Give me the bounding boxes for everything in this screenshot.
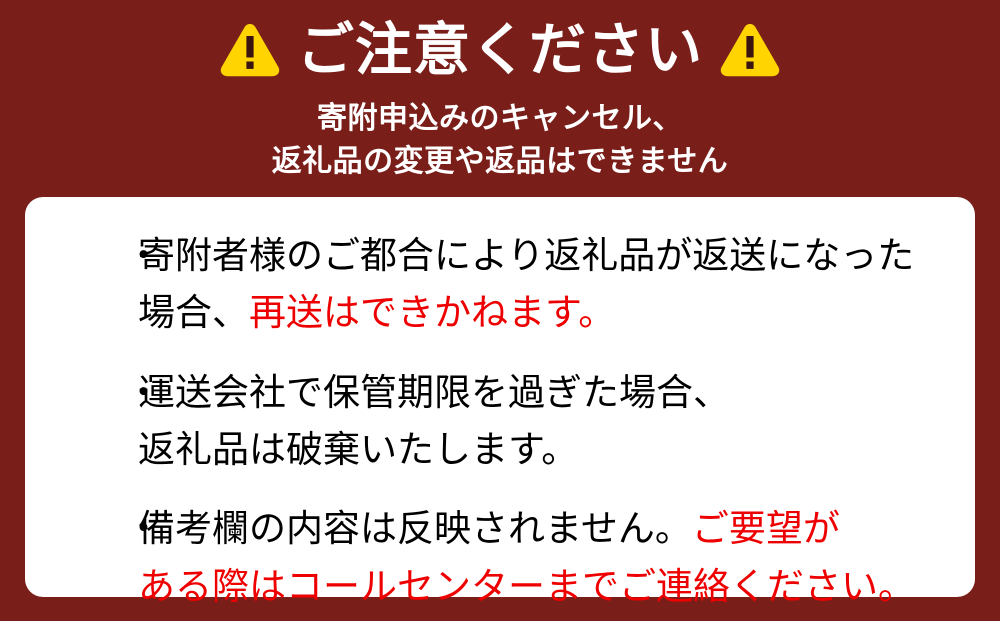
note-text: 寄附者様のご都合により返礼品が返送になった	[138, 235, 914, 276]
note-text: 場合、	[138, 292, 249, 333]
title-row: ご注意ください	[0, 14, 1000, 86]
poster-subtitle: 寄附申込みのキャンセル、 返礼品の変更や返品はできません	[0, 98, 1000, 183]
notes-list: ・寄附者様のご都合により返礼品が返送になった場合、再送はできかねます。・運送会社…	[25, 227, 975, 615]
note-text-emphasis: ある際はコールセンターまでご連絡ください。	[138, 566, 915, 607]
subtitle-line: 寄附申込みのキャンセル、	[0, 98, 1000, 141]
note-text-emphasis: ご要望が	[692, 508, 840, 549]
subtitle-line: 返礼品の変更や返品はできません	[0, 141, 1000, 184]
note-item: ・寄附者様のご都合により返礼品が返送になった場合、再送はできかねます。	[25, 227, 975, 342]
note-line: 場合、再送はできかねます。	[138, 284, 975, 341]
note-text: 備考欄の内容は反映されません。	[138, 508, 692, 549]
note-line: 返礼品は破棄いたします。	[138, 421, 975, 478]
poster-title: ご注意ください	[297, 22, 703, 79]
poster-header: ご注意ください 寄附申込みのキャンセル、 返礼品の変更や返品はできません	[0, 14, 1000, 183]
note-text-emphasis: 再送はできかねます。	[249, 292, 615, 333]
note-text: 運送会社で保管期限を過ぎた場合、	[138, 372, 730, 413]
note-line: 備考欄の内容は反映されません。ご要望が	[138, 500, 975, 557]
warning-poster: ご注意ください 寄附申込みのキャンセル、 返礼品の変更や返品はできません ・寄附…	[0, 0, 1000, 621]
note-text: 返礼品は破棄いたします。	[138, 429, 578, 470]
notes-card: ・寄附者様のご都合により返礼品が返送になった場合、再送はできかねます。・運送会社…	[25, 197, 975, 597]
note-line: 寄附者様のご都合により返礼品が返送になった	[138, 227, 975, 284]
bullet-marker: ・	[125, 364, 162, 421]
note-line: ある際はコールセンターまでご連絡ください。	[138, 558, 975, 615]
note-item: ・運送会社で保管期限を過ぎた場合、返礼品は破棄いたします。	[25, 364, 975, 479]
bullet-marker: ・	[125, 500, 162, 557]
note-line: 運送会社で保管期限を過ぎた場合、	[138, 364, 975, 421]
warning-triangle-icon	[219, 21, 281, 79]
bullet-marker: ・	[125, 227, 162, 284]
note-item: ・備考欄の内容は反映されません。ご要望がある際はコールセンターまでご連絡ください…	[25, 500, 975, 615]
warning-triangle-icon	[719, 21, 781, 79]
